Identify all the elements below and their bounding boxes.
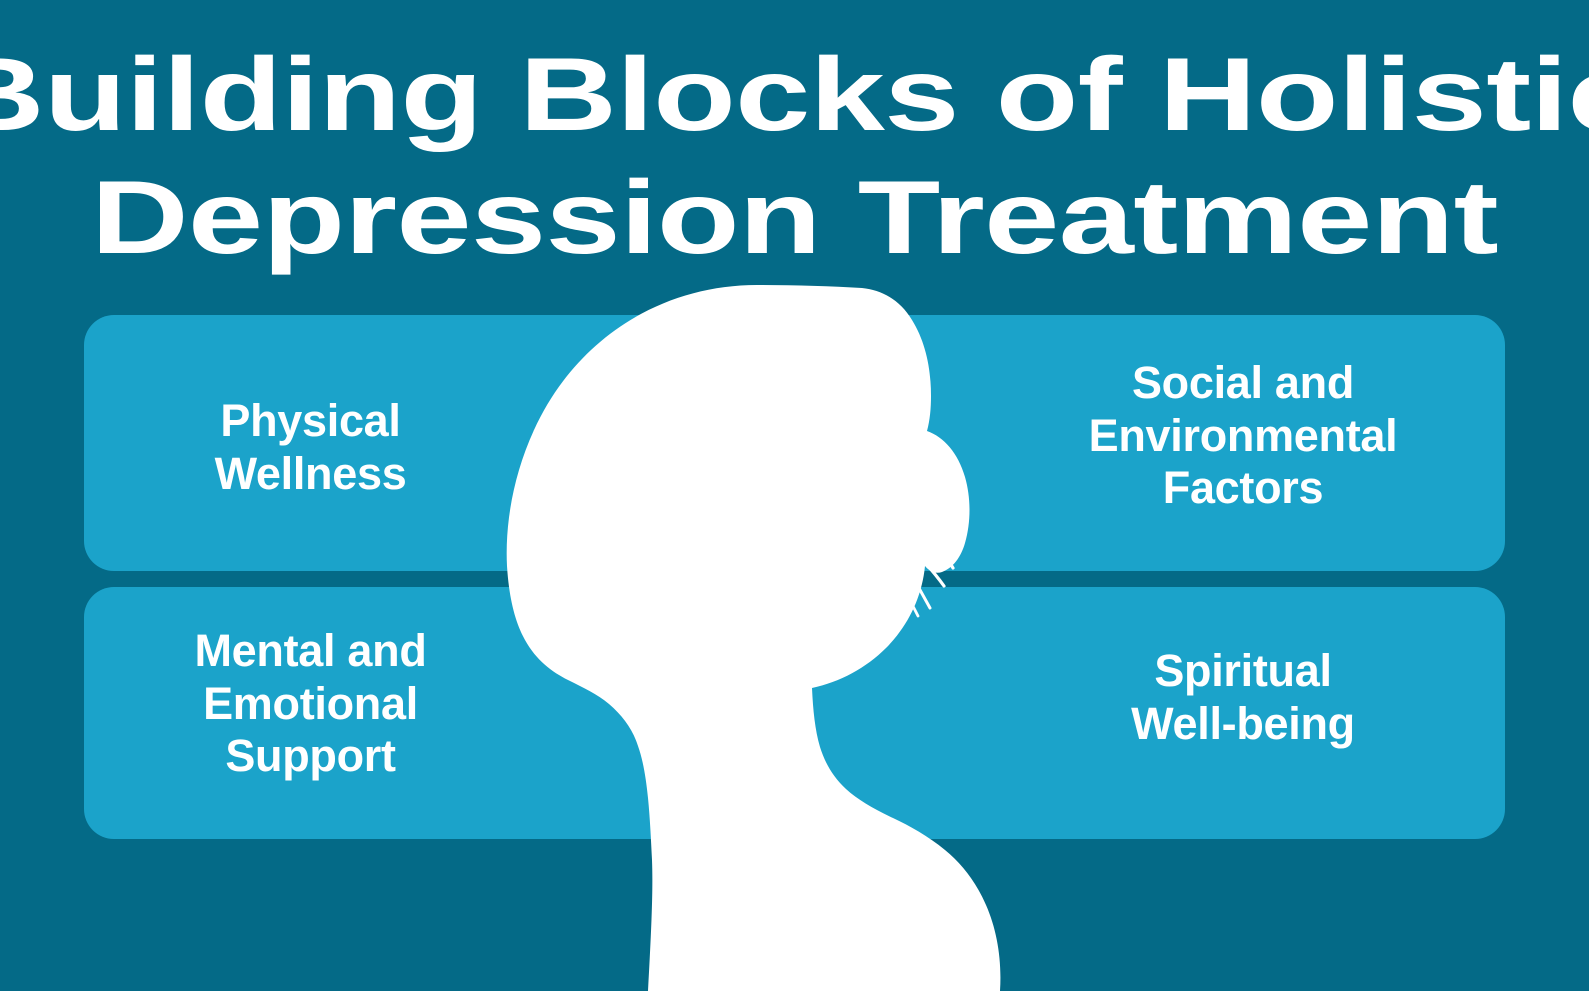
block-label-spiritual-well-being[interactable]: Spiritual Well-being bbox=[1008, 645, 1478, 750]
block-label-mental-emotional-support[interactable]: Mental and Emotional Support bbox=[108, 625, 513, 783]
block-label-social-environmental-factors[interactable]: Social and Environmental Factors bbox=[1008, 357, 1478, 515]
block-label-physical-wellness[interactable]: Physical Wellness bbox=[108, 395, 513, 500]
title-line-1: Building Blocks of Holistic bbox=[0, 34, 1589, 157]
infographic-canvas: Building Blocks of Holistic Depression T… bbox=[0, 0, 1589, 991]
title-line-2: Depression Treatment bbox=[0, 157, 1589, 280]
page-title: Building Blocks of Holistic Depression T… bbox=[0, 34, 1589, 279]
